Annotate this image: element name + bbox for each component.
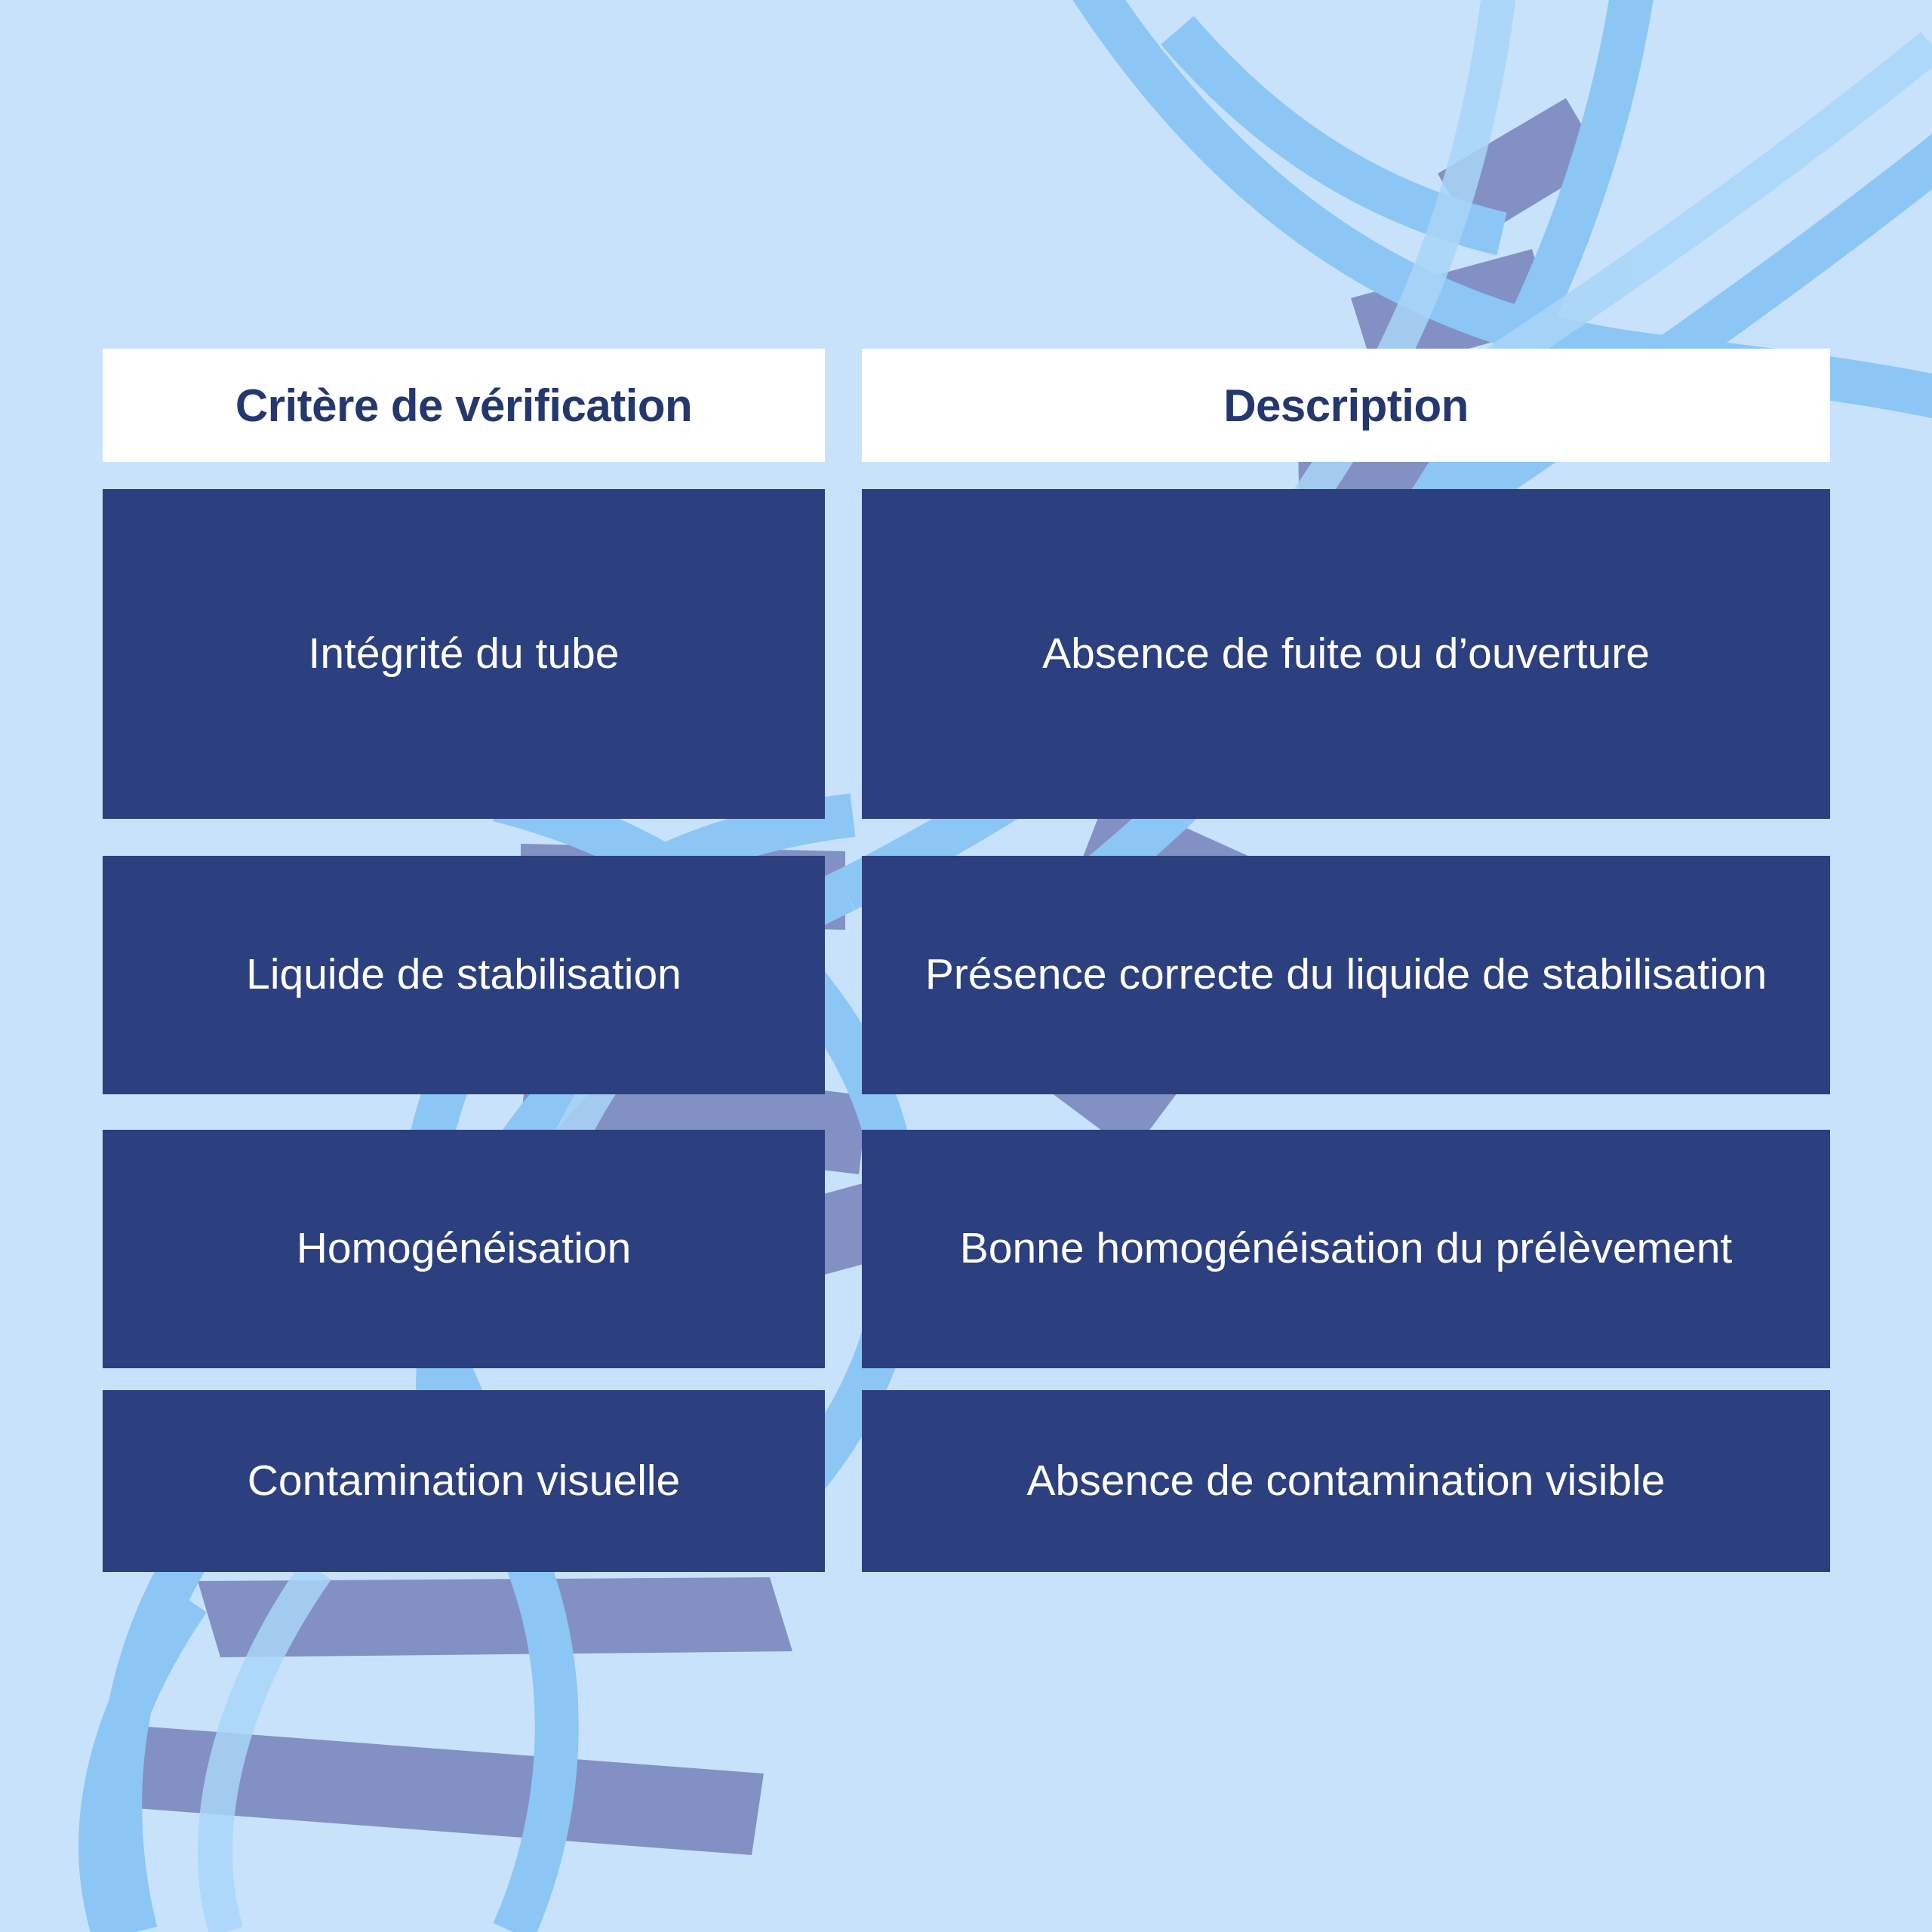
table-row: Contamination visuelle Absence de contam…	[103, 1390, 1830, 1572]
cell-description: Présence correcte du liquide de stabilis…	[862, 856, 1830, 1094]
column-divider	[825, 489, 862, 819]
cell-criterion: Homogénéisation	[103, 1130, 825, 1368]
cell-description: Bonne homogénéisation du prélèvement	[862, 1130, 1830, 1368]
row-divider	[103, 1368, 1830, 1390]
table-row: Liquide de stabilisation Présence correc…	[103, 856, 1830, 1094]
cell-criterion: Contamination visuelle	[103, 1390, 825, 1572]
verification-criteria-table: Critère de vérification Description Inté…	[103, 349, 1830, 1572]
column-divider	[825, 856, 862, 1094]
column-divider	[825, 1130, 862, 1368]
row-divider	[103, 819, 1830, 856]
infographic-canvas: Critère de vérification Description Inté…	[0, 0, 1932, 1932]
table-row: Intégrité du tube Absence de fuite ou d’…	[103, 489, 1830, 819]
cell-criterion: Liquide de stabilisation	[103, 856, 825, 1094]
column-divider	[825, 1390, 862, 1572]
table-row: Homogénéisation Bonne homogénéisation du…	[103, 1130, 1830, 1368]
table-header-row: Critère de vérification Description	[103, 349, 1830, 462]
column-divider	[825, 349, 862, 462]
cell-criterion: Intégrité du tube	[103, 489, 825, 819]
cell-description: Absence de contamination visible	[862, 1390, 1830, 1572]
column-header-criterion: Critère de vérification	[103, 349, 825, 462]
row-divider	[103, 1094, 1830, 1130]
row-divider	[103, 462, 1830, 489]
cell-description: Absence de fuite ou d’ouverture	[862, 489, 1830, 819]
column-header-description: Description	[862, 349, 1830, 462]
